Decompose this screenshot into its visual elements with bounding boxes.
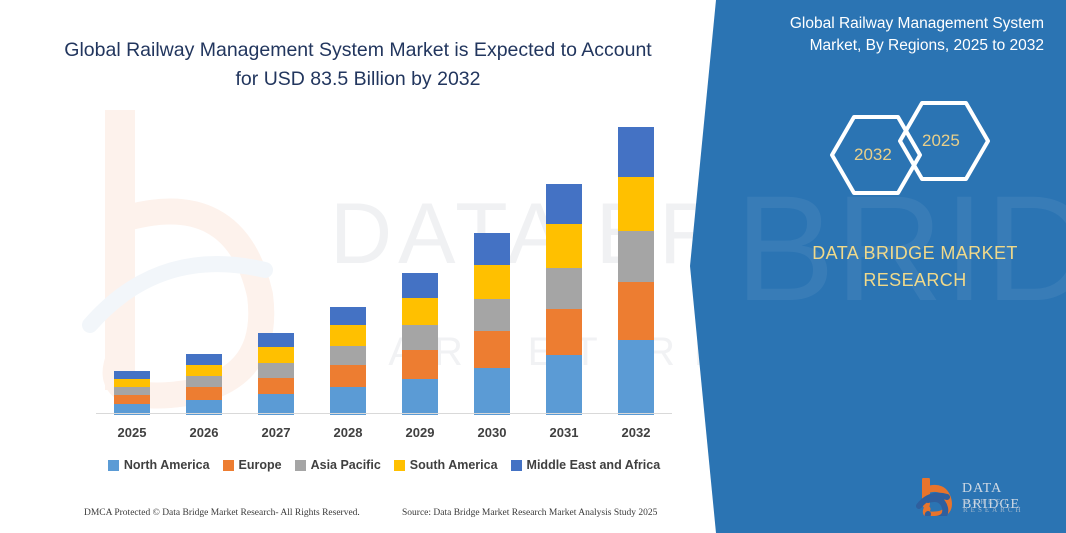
legend-swatch: [223, 460, 234, 471]
infographic-canvas: DATA BRIDGE MARKET RESEARCH Global Railw…: [0, 0, 1066, 533]
chart-legend: North AmericaEuropeAsia PacificSouth Ame…: [96, 458, 672, 472]
bar-column: [618, 127, 654, 415]
logo-text-secondary: MARKET RESEARCH: [963, 498, 1056, 514]
stacked-bar-chart: [96, 120, 672, 415]
bar-segment: [618, 282, 654, 340]
bar-segment: [402, 325, 438, 350]
bar-column: [258, 333, 294, 415]
bar-segment: [330, 307, 366, 326]
x-axis-label: 2027: [240, 425, 312, 440]
x-axis-label: 2029: [384, 425, 456, 440]
brand-line-1: DATA BRIDGE MARKET: [790, 240, 1040, 267]
bar-segment: [330, 346, 366, 365]
x-axis-labels: 20252026202720282029203020312032: [96, 425, 672, 445]
bar-segment: [618, 231, 654, 282]
bar-segment: [114, 387, 150, 395]
bar-segment: [186, 354, 222, 365]
legend-swatch: [108, 460, 119, 471]
bar-segment: [546, 309, 582, 355]
legend-item[interactable]: Middle East and Africa: [511, 458, 661, 472]
legend-label: Asia Pacific: [311, 458, 381, 472]
bar-segment: [114, 379, 150, 387]
bar-segment: [618, 177, 654, 231]
bar-segment: [546, 224, 582, 267]
bar-segment: [330, 325, 366, 345]
legend-item[interactable]: Asia Pacific: [295, 458, 381, 472]
hexagon-label-2032: 2032: [854, 145, 892, 165]
bar-segment: [186, 387, 222, 400]
brand-name: DATA BRIDGE MARKET RESEARCH: [790, 240, 1040, 294]
page-title: Global Railway Management System Market …: [58, 36, 658, 94]
bar-column: [402, 273, 438, 415]
bar-segment: [618, 340, 654, 415]
legend-swatch: [295, 460, 306, 471]
bar-segment: [402, 273, 438, 298]
x-axis-label: 2026: [168, 425, 240, 440]
legend-item[interactable]: South America: [394, 458, 498, 472]
footer-copyright: DMCA Protected © Data Bridge Market Rese…: [84, 508, 360, 518]
legend-label: North America: [124, 458, 210, 472]
bar-segment: [258, 363, 294, 378]
panel-title: Global Railway Management System Market,…: [784, 13, 1044, 57]
legend-item[interactable]: Europe: [223, 458, 282, 472]
bar-segment: [186, 376, 222, 387]
bar-segment: [258, 378, 294, 395]
legend-label: Middle East and Africa: [527, 458, 661, 472]
hexagon-label-2025: 2025: [922, 131, 960, 151]
bar-segment: [186, 365, 222, 376]
bar-segment: [114, 371, 150, 379]
footer-source: Source: Data Bridge Market Research Mark…: [402, 508, 657, 518]
bar-column: [546, 184, 582, 415]
legend-label: South America: [410, 458, 498, 472]
bar-column: [474, 233, 510, 415]
bar-segment: [546, 355, 582, 415]
chart-baseline: [96, 413, 672, 414]
bar-segment: [258, 333, 294, 347]
bar-segment: [402, 350, 438, 378]
data-bridge-logo: DATA BRIDGE MARKET RESEARCH: [916, 478, 1056, 518]
bar-segment: [474, 233, 510, 265]
legend-item[interactable]: North America: [108, 458, 210, 472]
hexagon-group: 2032 2025: [822, 98, 1002, 218]
bar-segment: [258, 394, 294, 415]
legend-label: Europe: [239, 458, 282, 472]
bar-segment: [330, 365, 366, 387]
x-axis-label: 2030: [456, 425, 528, 440]
x-axis-label: 2025: [96, 425, 168, 440]
bar-segment: [474, 299, 510, 331]
bar-segment: [258, 347, 294, 363]
x-axis-label: 2028: [312, 425, 384, 440]
legend-swatch: [511, 460, 522, 471]
bar-segment: [618, 127, 654, 177]
x-axis-label: 2032: [600, 425, 672, 440]
bar-segment: [330, 387, 366, 415]
bar-segment: [402, 298, 438, 325]
legend-swatch: [394, 460, 405, 471]
bar-segment: [546, 184, 582, 224]
brand-line-2: RESEARCH: [790, 267, 1040, 294]
bar-segment: [474, 331, 510, 367]
bar-segment: [546, 268, 582, 309]
x-axis-label: 2031: [528, 425, 600, 440]
bar-column: [330, 307, 366, 415]
bar-segment: [114, 395, 150, 404]
bar-column: [186, 354, 222, 415]
bar-segment: [402, 379, 438, 415]
bar-segment: [474, 265, 510, 299]
bar-segment: [474, 368, 510, 415]
bar-column: [114, 371, 150, 415]
